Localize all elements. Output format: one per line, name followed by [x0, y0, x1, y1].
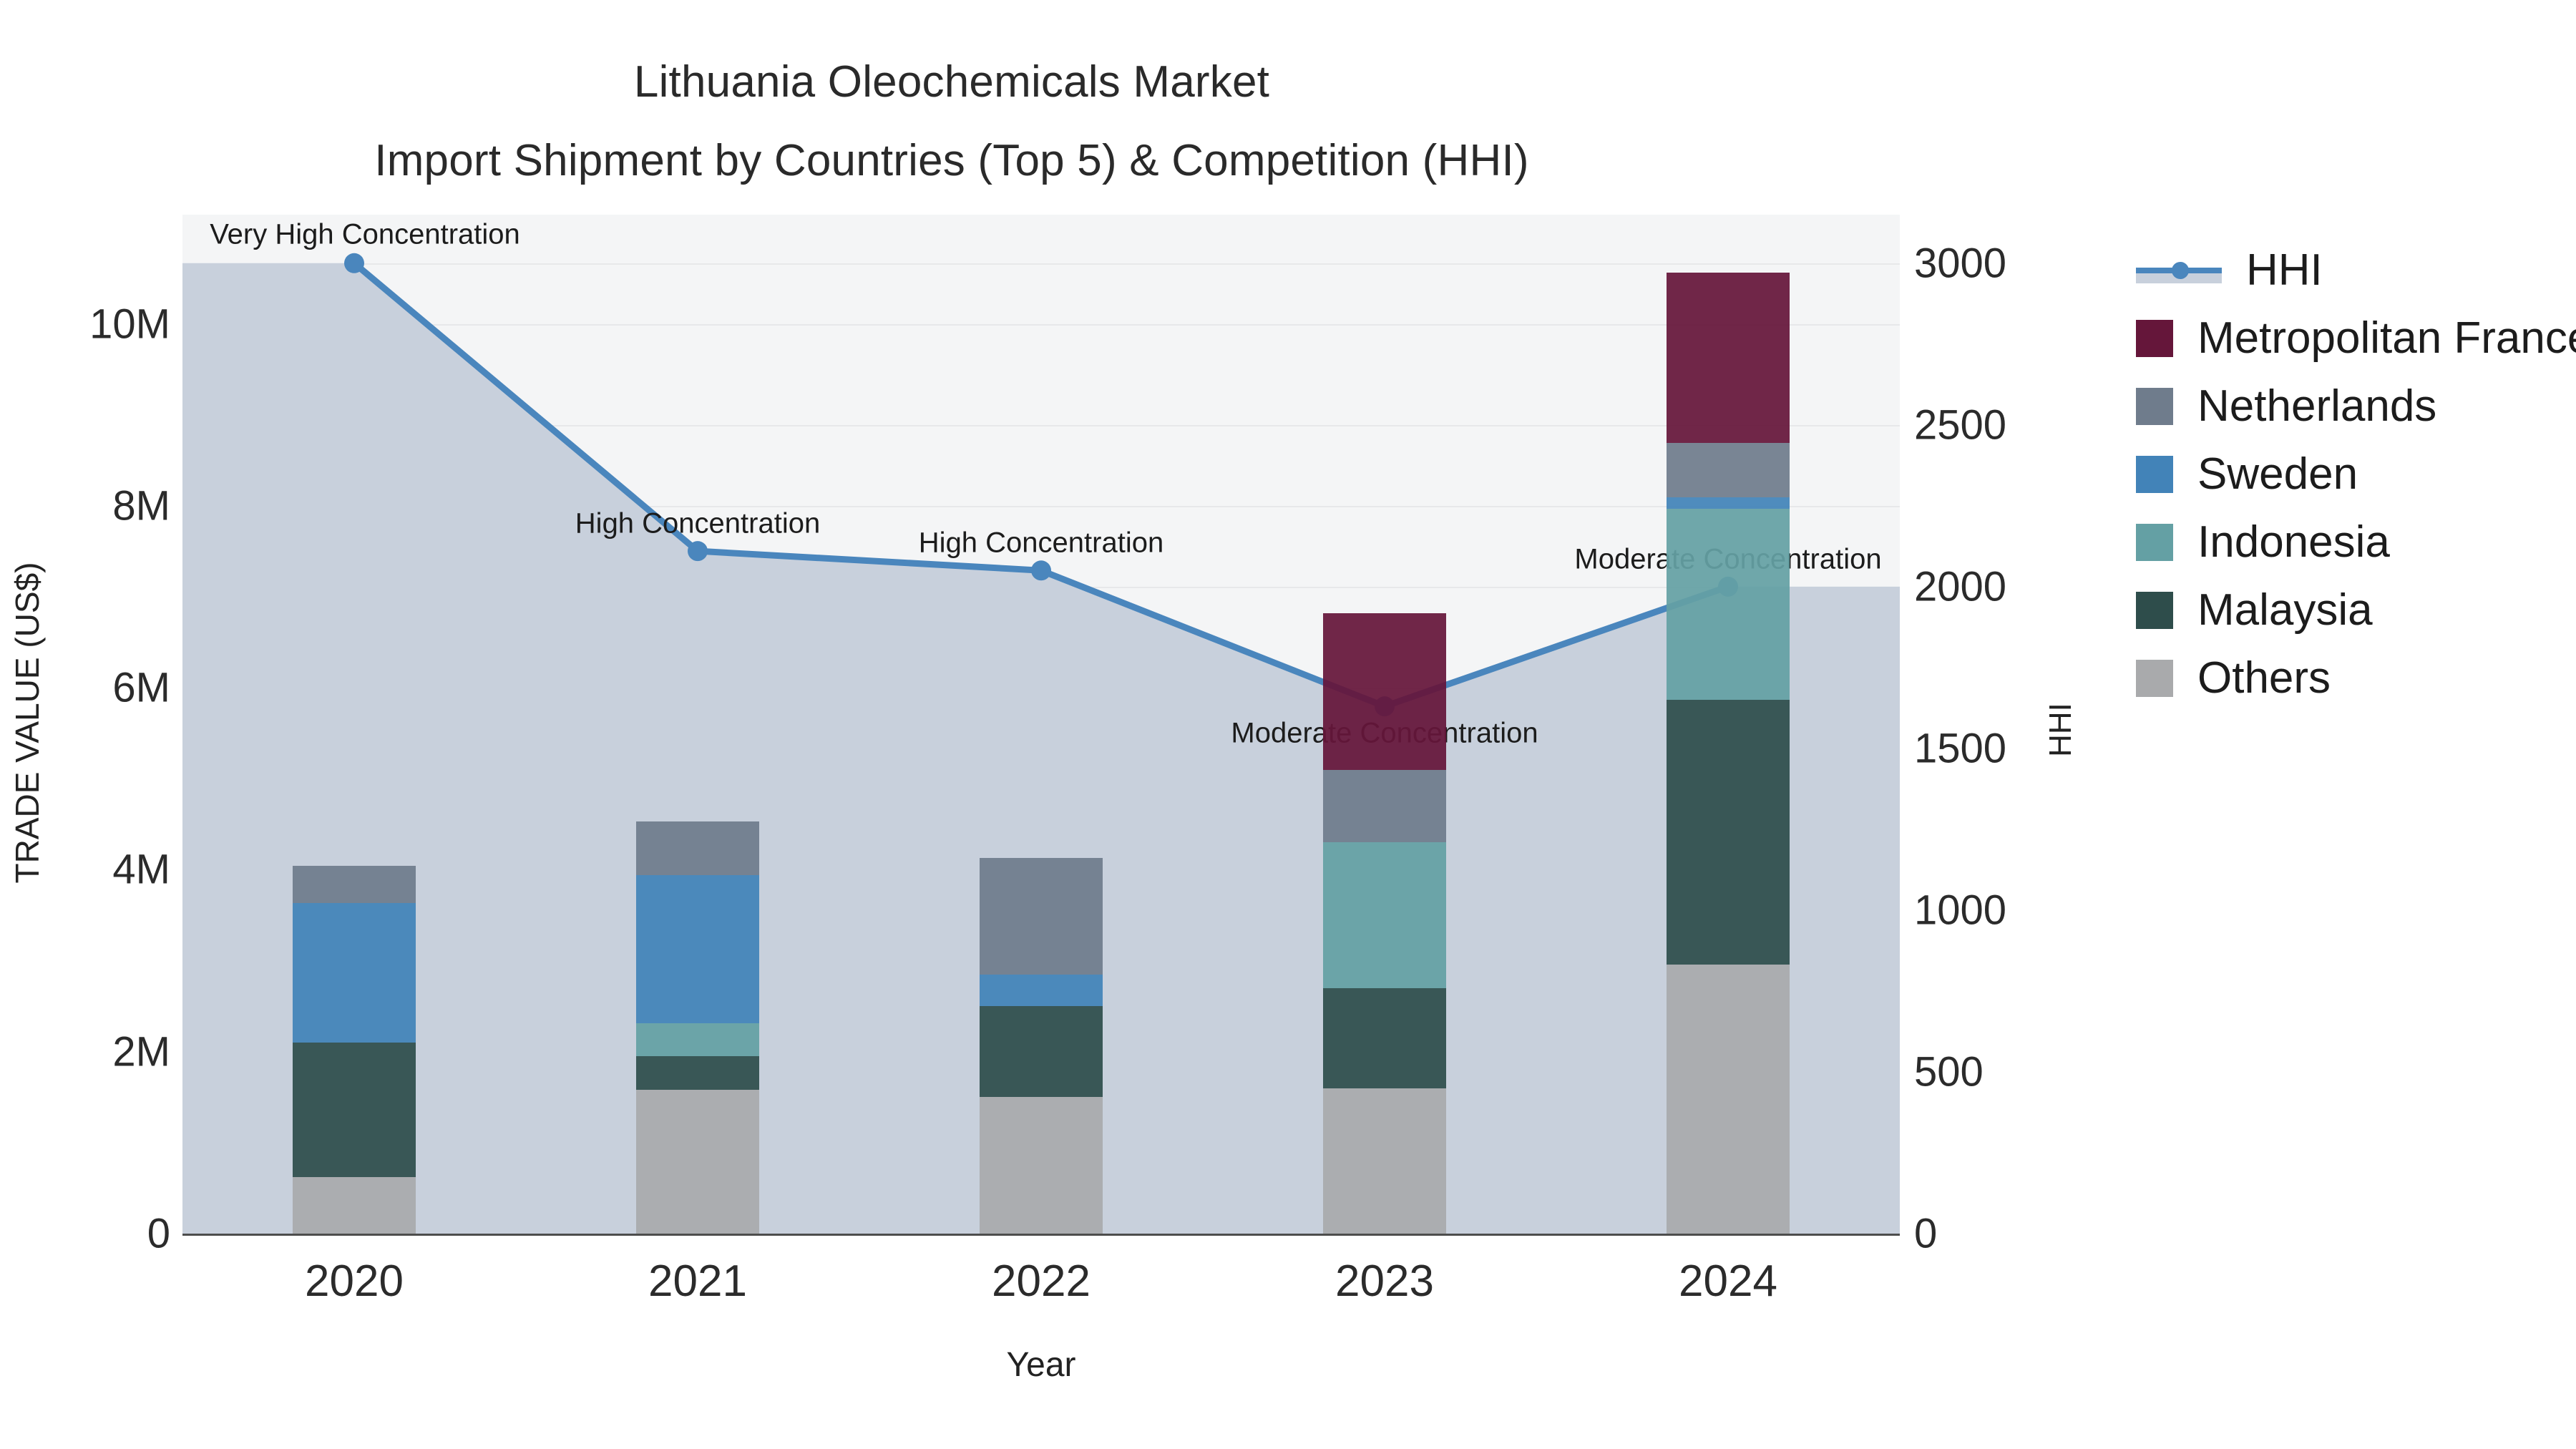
- chart-title: Lithuania Oleochemicals Market: [0, 43, 1903, 122]
- bar-segment[interactable]: [1323, 1088, 1446, 1234]
- y-axis-right-ticks: 050010001500200025003000: [1914, 0, 2143, 1449]
- bar-segment[interactable]: [636, 1023, 759, 1056]
- y-tick-label-right: 3000: [1914, 239, 2006, 287]
- bar-segment[interactable]: [1667, 273, 1790, 443]
- legend-item-label: Sweden: [2197, 452, 2358, 497]
- legend-swatch-icon: [2136, 592, 2173, 629]
- chart-root: Lithuania Oleochemicals Market Import Sh…: [0, 0, 2576, 1449]
- hhi-annotation: High Concentration: [575, 508, 820, 540]
- y-tick-label-left: 8M: [112, 482, 170, 530]
- bar-segment[interactable]: [980, 1097, 1103, 1234]
- y-axis-right-title: HHI: [2043, 703, 2079, 757]
- bar-segment[interactable]: [1667, 509, 1790, 700]
- y-tick-label-right: 0: [1914, 1210, 1937, 1258]
- bar-segment[interactable]: [1323, 842, 1446, 987]
- x-tick-label: 2020: [305, 1256, 404, 1307]
- y-tick-label-left: 0: [147, 1210, 170, 1258]
- legend-item-label: Indonesia: [2197, 520, 2390, 565]
- gridline: [182, 688, 1900, 689]
- y-tick-label-right: 500: [1914, 1048, 1984, 1096]
- bar-segment[interactable]: [293, 866, 416, 903]
- bar-segment[interactable]: [1667, 443, 1790, 497]
- bar-segment[interactable]: [1667, 965, 1790, 1234]
- gridline-right: [182, 587, 1900, 588]
- bar-segment[interactable]: [636, 875, 759, 1023]
- legend-item[interactable]: Metropolitan France: [2136, 304, 2576, 372]
- bar-segment[interactable]: [1667, 497, 1790, 508]
- legend-item[interactable]: Netherlands: [2136, 372, 2576, 440]
- gridline: [182, 506, 1900, 507]
- gridline: [182, 324, 1900, 326]
- legend-item-label: Metropolitan France: [2197, 316, 2576, 361]
- bar-segment[interactable]: [980, 1006, 1103, 1097]
- y-tick-label-right: 2500: [1914, 401, 2006, 449]
- bar-segment[interactable]: [1667, 700, 1790, 965]
- bar-segment[interactable]: [1323, 988, 1446, 1088]
- bar-segment[interactable]: [636, 1090, 759, 1234]
- y-axis-left-title: TRADE VALUE (US$): [8, 562, 47, 883]
- legend-line-icon: [2136, 252, 2222, 289]
- legend-item[interactable]: Sweden: [2136, 440, 2576, 508]
- y-tick-label-left: 6M: [112, 664, 170, 712]
- legend-swatch-icon: [2136, 320, 2173, 357]
- bar-segment[interactable]: [293, 1177, 416, 1234]
- hhi-annotation: High Concentration: [919, 527, 1163, 560]
- legend-swatch-icon: [2136, 456, 2173, 493]
- x-tick-label: 2021: [648, 1256, 747, 1307]
- legend-item[interactable]: Others: [2136, 644, 2576, 712]
- bar-segment[interactable]: [980, 858, 1103, 975]
- legend-swatch-icon: [2136, 388, 2173, 425]
- legend-item-label: Others: [2197, 656, 2331, 701]
- x-tick-label: 2023: [1335, 1256, 1434, 1307]
- bar-segment[interactable]: [293, 903, 416, 1043]
- x-tick-label: 2022: [992, 1256, 1091, 1307]
- bar-segment[interactable]: [636, 1056, 759, 1090]
- legend-item-label: HHI: [2246, 248, 2323, 293]
- bar-segment[interactable]: [980, 975, 1103, 1007]
- bar-segment[interactable]: [1323, 770, 1446, 843]
- legend-item[interactable]: Indonesia: [2136, 508, 2576, 576]
- legend: HHIMetropolitan FranceNetherlandsSwedenI…: [2136, 236, 2576, 712]
- chart-title-block: Lithuania Oleochemicals Market Import Sh…: [0, 43, 1903, 200]
- y-tick-label-left: 2M: [112, 1028, 170, 1075]
- y-tick-label-left: 4M: [112, 846, 170, 894]
- y-tick-label-right: 2000: [1914, 562, 2006, 610]
- hhi-annotation: Very High Concentration: [210, 218, 520, 250]
- bar-segment[interactable]: [293, 1043, 416, 1177]
- y-tick-label-right: 1500: [1914, 724, 2006, 772]
- bar-segment[interactable]: [1323, 613, 1446, 770]
- legend-item[interactable]: HHI: [2136, 236, 2576, 304]
- y-tick-label-left: 10M: [89, 300, 170, 348]
- chart-subtitle: Import Shipment by Countries (Top 5) & C…: [0, 122, 1903, 200]
- legend-swatch-icon: [2136, 524, 2173, 561]
- legend-item[interactable]: Malaysia: [2136, 576, 2576, 644]
- legend-swatch-icon: [2136, 660, 2173, 697]
- y-tick-label-right: 1000: [1914, 886, 2006, 934]
- x-axis-title: Year: [1007, 1345, 1076, 1385]
- legend-item-label: Malaysia: [2197, 588, 2373, 633]
- bar-segment[interactable]: [636, 821, 759, 875]
- legend-item-label: Netherlands: [2197, 384, 2436, 429]
- gridline-right: [182, 263, 1900, 265]
- gridline-right: [182, 425, 1900, 426]
- gridline-right: [182, 748, 1900, 750]
- x-tick-label: 2024: [1679, 1256, 1777, 1307]
